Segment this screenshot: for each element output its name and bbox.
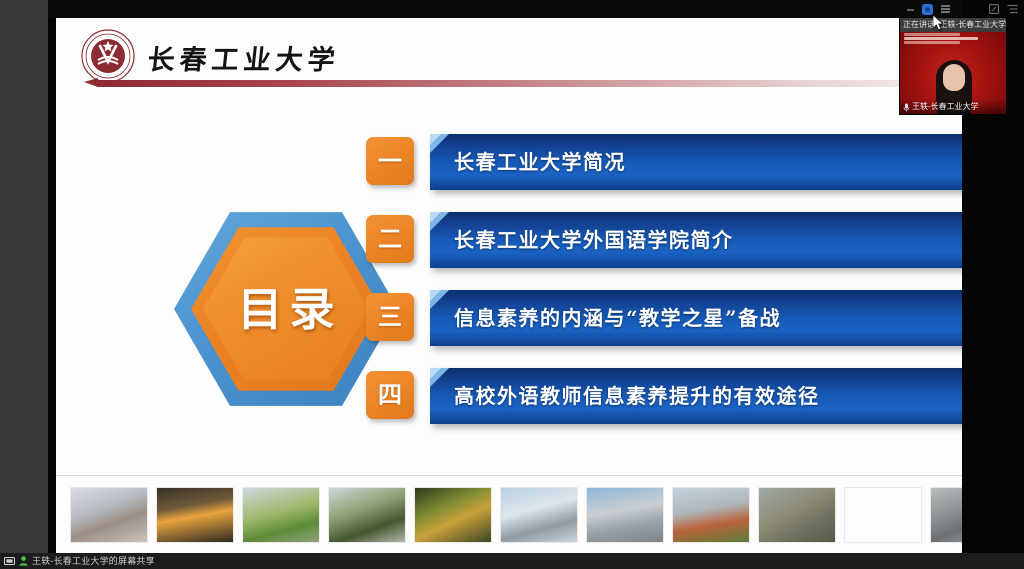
toc-item: 三信息素养的内涵与“教学之星”备战: [366, 290, 946, 348]
left-rail: [0, 0, 48, 553]
toc-number-badge: 一: [366, 137, 414, 185]
layout-view-icon[interactable]: [1007, 4, 1018, 14]
screen-share-label: 王轶-长春工业大学的屏幕共享: [32, 557, 155, 566]
toc-item: 一长春工业大学简况: [366, 134, 946, 192]
toc-title-bar: 长春工业大学简况: [430, 134, 962, 190]
contents-label: 目录: [230, 287, 341, 332]
campus-main-hall: [586, 487, 664, 543]
contents-hexagon: 目录: [174, 206, 398, 412]
toc-number: 二: [378, 227, 402, 251]
toc-number-badge: 三: [366, 293, 414, 341]
campus-winter-building: [70, 487, 148, 543]
speaker-video-thumbnail[interactable]: 王轶-长春工业大学: [900, 18, 1006, 114]
folded-corner-highlight-icon: [430, 212, 441, 223]
campus-snow-building: [500, 487, 578, 543]
toc-title: 长春工业大学外国语学院简介: [430, 230, 734, 250]
campus-sports-track: [672, 487, 750, 543]
folded-corner-highlight-icon: [430, 134, 441, 145]
toc-item: 二长春工业大学外国语学院简介: [366, 212, 946, 270]
toc-number: 四: [378, 383, 402, 407]
toc-title: 高校外语教师信息素养提升的有效途径: [430, 386, 820, 406]
meeting-screen-share-window: 长春工业大学 目录 一长春工业大学简况二长春工业大学外国语学院简介三信息素养的内…: [0, 0, 1024, 569]
active-speaker-bar: 正在讲话: 王轶-长春工业大学: [900, 18, 1006, 32]
top-strip: [48, 0, 1024, 18]
video-overlay-banner: [900, 32, 1006, 50]
campus-aerial-view: [758, 487, 836, 543]
campus-photo-strip: [56, 475, 962, 553]
hamburger-menu-icon[interactable]: [940, 4, 951, 14]
camera-icon[interactable]: [922, 4, 933, 15]
contents-hexagon-inner: 目录: [203, 233, 369, 385]
university-name-title: 长春工业大学: [146, 38, 342, 77]
active-speaker-label: 正在讲话: 王轶-长春工业大学: [903, 21, 1006, 29]
campus-spring-blossom: [328, 487, 406, 543]
slide-header: 长春工业大学: [56, 18, 962, 94]
campus-autumn-foliage: [414, 487, 492, 543]
folded-corner-highlight-icon: [430, 368, 441, 379]
toc-number: 三: [378, 305, 402, 329]
microphone-icon: [903, 103, 910, 112]
minimize-icon[interactable]: [906, 5, 915, 14]
header-divider: [98, 80, 944, 87]
campus-historic-bw: [930, 487, 962, 543]
folded-corner-highlight-icon: [430, 290, 441, 301]
monitor-share-icon: [4, 557, 15, 566]
university-logo-icon: [80, 28, 136, 84]
toc-number: 一: [378, 149, 402, 173]
person-icon: [19, 556, 28, 566]
toc-title-bar: 信息素养的内涵与“教学之星”备战: [430, 290, 962, 346]
shared-slide: 长春工业大学 目录 一长春工业大学简况二长春工业大学外国语学院简介三信息素养的内…: [56, 18, 962, 553]
table-of-contents: 一长春工业大学简况二长春工业大学外国语学院简介三信息素养的内涵与“教学之星”备战…: [366, 134, 946, 446]
toc-title-bar: 长春工业大学外国语学院简介: [430, 212, 962, 268]
video-toolbar: [900, 0, 1024, 18]
campus-brick-building: [844, 487, 922, 543]
video-name-label: 王轶-长春工业大学: [900, 100, 1006, 114]
toc-number-badge: 二: [366, 215, 414, 263]
campus-lawn-path: [242, 487, 320, 543]
toc-title: 信息素养的内涵与“教学之星”备战: [430, 308, 781, 328]
screen-share-status-bar: 王轶-长春工业大学的屏幕共享: [0, 553, 1024, 569]
toc-number-badge: 四: [366, 371, 414, 419]
popout-window-icon[interactable]: [989, 4, 999, 14]
campus-sunset-trees: [156, 487, 234, 543]
toc-title-bar: 高校外语教师信息素养提升的有效途径: [430, 368, 962, 424]
toc-title: 长春工业大学简况: [430, 152, 626, 172]
left-gap: [48, 0, 56, 553]
toc-item: 四高校外语教师信息素养提升的有效途径: [366, 368, 946, 426]
video-participant-name: 王轶-长春工业大学: [912, 103, 979, 111]
contents-hexagon-mid: 目录: [191, 222, 381, 396]
